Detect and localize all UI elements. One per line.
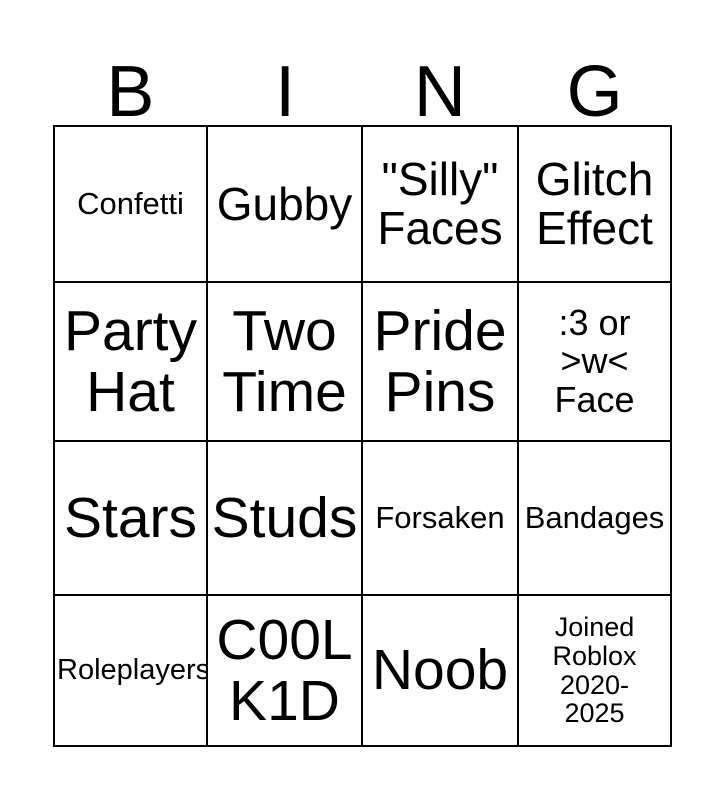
header-letter-g: G: [517, 44, 672, 125]
bingo-cell-label: C00L K1D: [210, 610, 359, 731]
bingo-cell-label: Noob: [365, 640, 515, 700]
bingo-cell-label: :3 or >w< Face: [521, 304, 668, 418]
bingo-cell-r2c1[interactable]: Party Hat: [55, 283, 208, 442]
bingo-cell-label: Two Time: [210, 301, 359, 422]
bingo-cell-label: Bandages: [521, 502, 668, 535]
bingo-cell-r4c2[interactable]: C00L K1D: [208, 596, 363, 747]
bingo-card: B I N G Confetti Gubby "Silly" Faces Gli…: [0, 0, 723, 800]
header-letter-b: B: [53, 44, 208, 125]
bingo-cell-r4c4[interactable]: Joined Roblox 2020- 2025: [519, 596, 672, 747]
bingo-cell-label: Gubby: [210, 180, 359, 229]
bingo-cell-label: Party Hat: [57, 301, 204, 422]
bingo-cell-label: Studs: [210, 488, 359, 548]
bingo-cell-label: Glitch Effect: [521, 155, 668, 253]
bingo-cell-r2c4[interactable]: :3 or >w< Face: [519, 283, 672, 442]
bingo-cell-r2c2[interactable]: Two Time: [208, 283, 363, 442]
bingo-cell-label: Pride Pins: [365, 301, 515, 422]
bingo-cell-r4c1[interactable]: Roleplayers: [55, 596, 208, 747]
bingo-cell-label: Confetti: [57, 188, 204, 221]
bingo-cell-r4c3[interactable]: Noob: [363, 596, 519, 747]
bingo-header-row: B I N G: [53, 44, 672, 125]
header-letter-i: I: [208, 44, 363, 125]
bingo-cell-r2c3[interactable]: Pride Pins: [363, 283, 519, 442]
bingo-cell-r1c1[interactable]: Confetti: [55, 127, 208, 283]
bingo-cell-r3c4[interactable]: Bandages: [519, 442, 672, 596]
header-letter-n: N: [363, 44, 518, 125]
bingo-cell-r3c2[interactable]: Studs: [208, 442, 363, 596]
bingo-cell-label: Roleplayers: [57, 655, 204, 686]
bingo-cell-r3c1[interactable]: Stars: [55, 442, 208, 596]
bingo-cell-r1c3[interactable]: "Silly" Faces: [363, 127, 519, 283]
bingo-cell-r1c2[interactable]: Gubby: [208, 127, 363, 283]
bingo-cell-r3c3[interactable]: Forsaken: [363, 442, 519, 596]
bingo-cell-label: Forsaken: [365, 502, 515, 535]
bingo-cell-label: "Silly" Faces: [365, 155, 515, 253]
bingo-cell-label: Stars: [57, 488, 204, 548]
bingo-cell-label: Joined Roblox 2020- 2025: [521, 613, 668, 727]
bingo-cell-r1c4[interactable]: Glitch Effect: [519, 127, 672, 283]
bingo-grid: Confetti Gubby "Silly" Faces Glitch Effe…: [53, 125, 672, 747]
